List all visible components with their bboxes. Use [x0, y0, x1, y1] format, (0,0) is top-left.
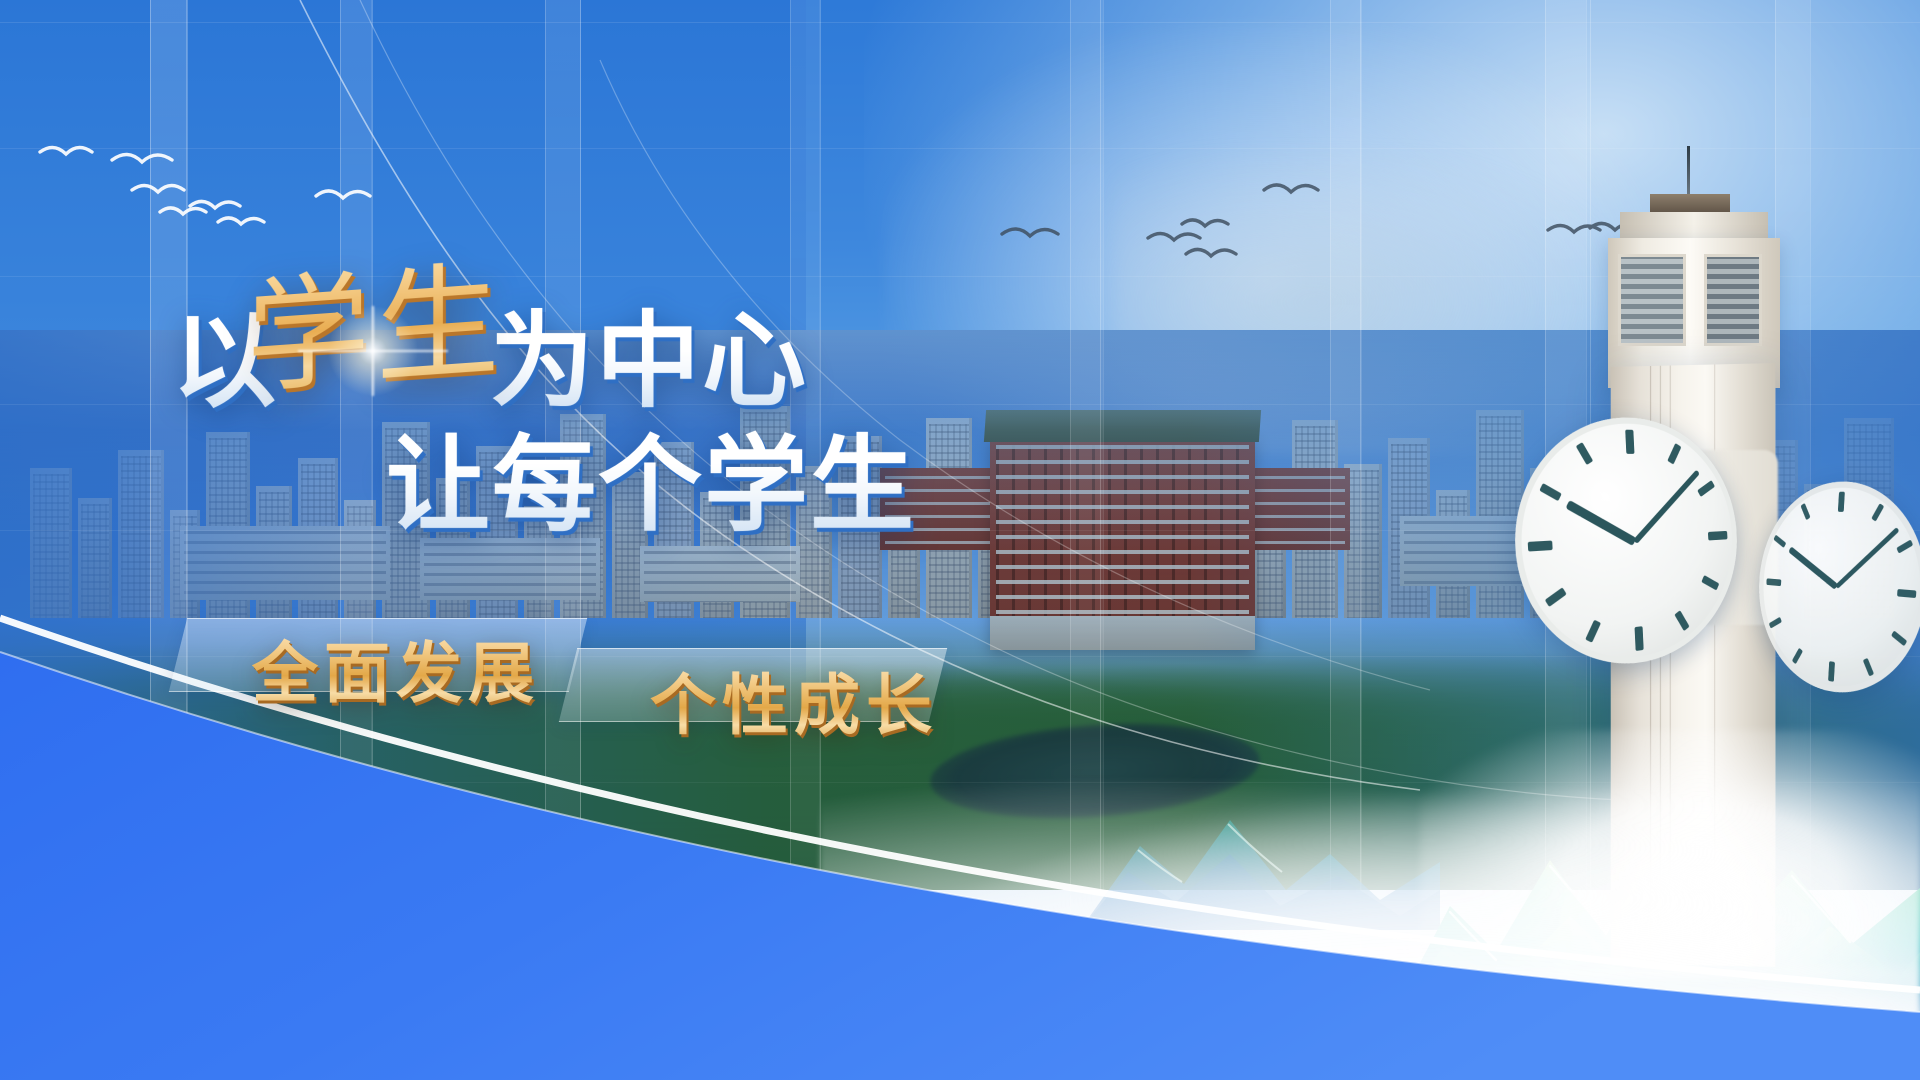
- subhead-text-2: 个性成长: [650, 652, 938, 748]
- clock-minute-hand-secondary: [1835, 527, 1899, 589]
- tower-louver-right: [1704, 254, 1762, 346]
- tower-roof: [1650, 194, 1730, 214]
- campus-low-building-c: [640, 546, 800, 602]
- clock-hour-hand-secondary: [1788, 546, 1838, 590]
- ink-mountains-left: [1080, 750, 1440, 930]
- campus-building-wing-left: [880, 468, 1000, 550]
- campus-low-building-a: [180, 526, 390, 600]
- tower-louver-left: [1618, 254, 1686, 346]
- clock-face-secondary: [1754, 480, 1920, 708]
- building-green-roof: [984, 410, 1261, 442]
- tower-spire-icon: [1687, 146, 1690, 198]
- campus-building-wing-right: [1250, 468, 1350, 550]
- banner-canvas: 以学生为中心 学生 让每个学生 全面发展 个性成长 校园宣传横幅: [0, 0, 1920, 1080]
- main-campus-building: [990, 435, 1255, 650]
- campus-low-building-b: [420, 538, 600, 600]
- tower-base-fog: [1420, 730, 1920, 980]
- clock-hour-hand-primary: [1566, 500, 1637, 546]
- subhead-text-1: 全面发展: [252, 620, 540, 716]
- clock-minute-hand-primary: [1633, 470, 1700, 545]
- clock-tower: [1490, 150, 1910, 940]
